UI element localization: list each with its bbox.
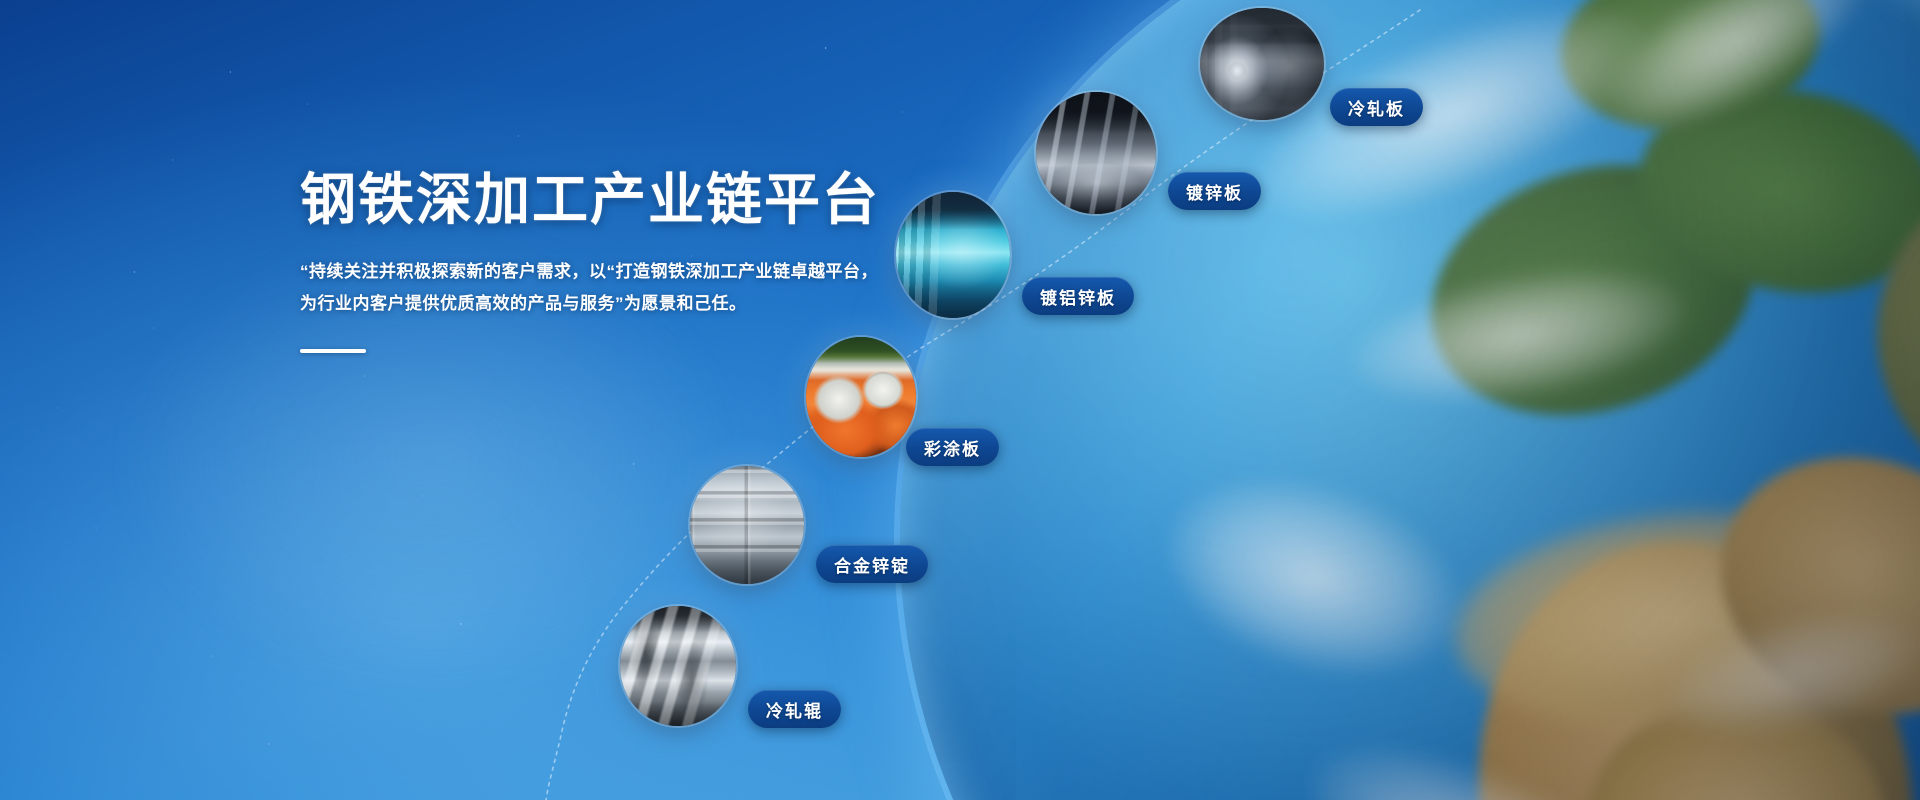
hero-banner: 钢铁深加工产业链平台 “持续关注并积极探索新的客户需求，以“打造钢铁深加工产业链… <box>0 0 1920 800</box>
alloy-zinc-ingots-photo[interactable] <box>690 466 804 584</box>
starfield-background <box>0 0 1920 800</box>
zinc-ingot-icon <box>690 466 804 584</box>
galvanized-sheet-icon <box>1036 92 1156 214</box>
starfield-background-layer3 <box>0 0 1920 800</box>
page-title: 钢铁深加工产业链平台 <box>300 170 920 230</box>
product-chain-arc <box>0 0 1920 800</box>
galvanized-warehouse-photo[interactable] <box>1036 92 1156 214</box>
starfield-background-layer2 <box>0 0 1920 800</box>
product-label-color-coated-sheet[interactable]: 彩涂板 <box>906 428 999 466</box>
steel-coil-icon <box>1200 8 1324 120</box>
title-divider <box>300 349 366 353</box>
aluzinc-coil-photo[interactable] <box>896 192 1010 318</box>
product-label-alloy-zinc-ingot[interactable]: 合金锌锭 <box>816 545 928 583</box>
product-label-cold-rolled-sheet[interactable]: 冷轧板 <box>1330 88 1423 126</box>
cold-rolling-roll-icon <box>620 606 736 726</box>
banner-copy: 钢铁深加工产业链平台 “持续关注并积极探索新的客户需求，以“打造钢铁深加工产业链… <box>300 170 920 353</box>
banner-subtitle: “持续关注并积极探索新的客户需求，以“打造钢铁深加工产业链卓越平台， 为行业内客… <box>300 256 920 319</box>
cold-rolled-steel-coils-photo[interactable] <box>1200 8 1324 120</box>
color-coated-coils-photo[interactable] <box>806 337 916 457</box>
aluzinc-sheet-icon <box>896 192 1010 318</box>
product-label-galvanized-sheet[interactable]: 镀锌板 <box>1168 172 1261 210</box>
product-label-aluzinc-sheet[interactable]: 镀铝锌板 <box>1022 277 1134 315</box>
subtitle-line-2: 为行业内客户提供优质高效的产品与服务”为愿景和己任。 <box>300 288 920 319</box>
cold-rolling-rolls-photo[interactable] <box>620 606 736 726</box>
color-coated-sheet-icon <box>806 337 916 457</box>
subtitle-line-1: “持续关注并积极探索新的客户需求，以“打造钢铁深加工产业链卓越平台， <box>300 256 920 287</box>
product-label-cold-rolling-roll[interactable]: 冷轧辊 <box>748 690 841 728</box>
